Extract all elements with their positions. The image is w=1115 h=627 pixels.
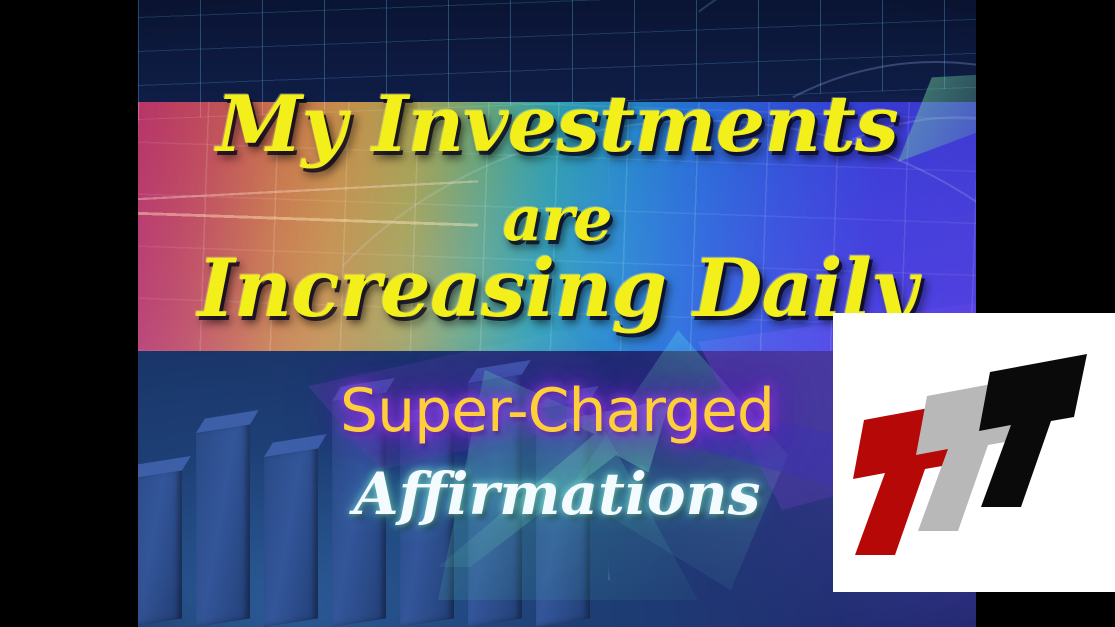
- ttt-logo-mark: [833, 313, 1115, 592]
- ttt-logo: [833, 313, 1115, 592]
- thumbnail-canvas: My Investments are Increasing Daily Supe…: [0, 0, 1115, 627]
- letterbox-left: [0, 0, 138, 627]
- headline-line-1: My Investments: [138, 86, 976, 164]
